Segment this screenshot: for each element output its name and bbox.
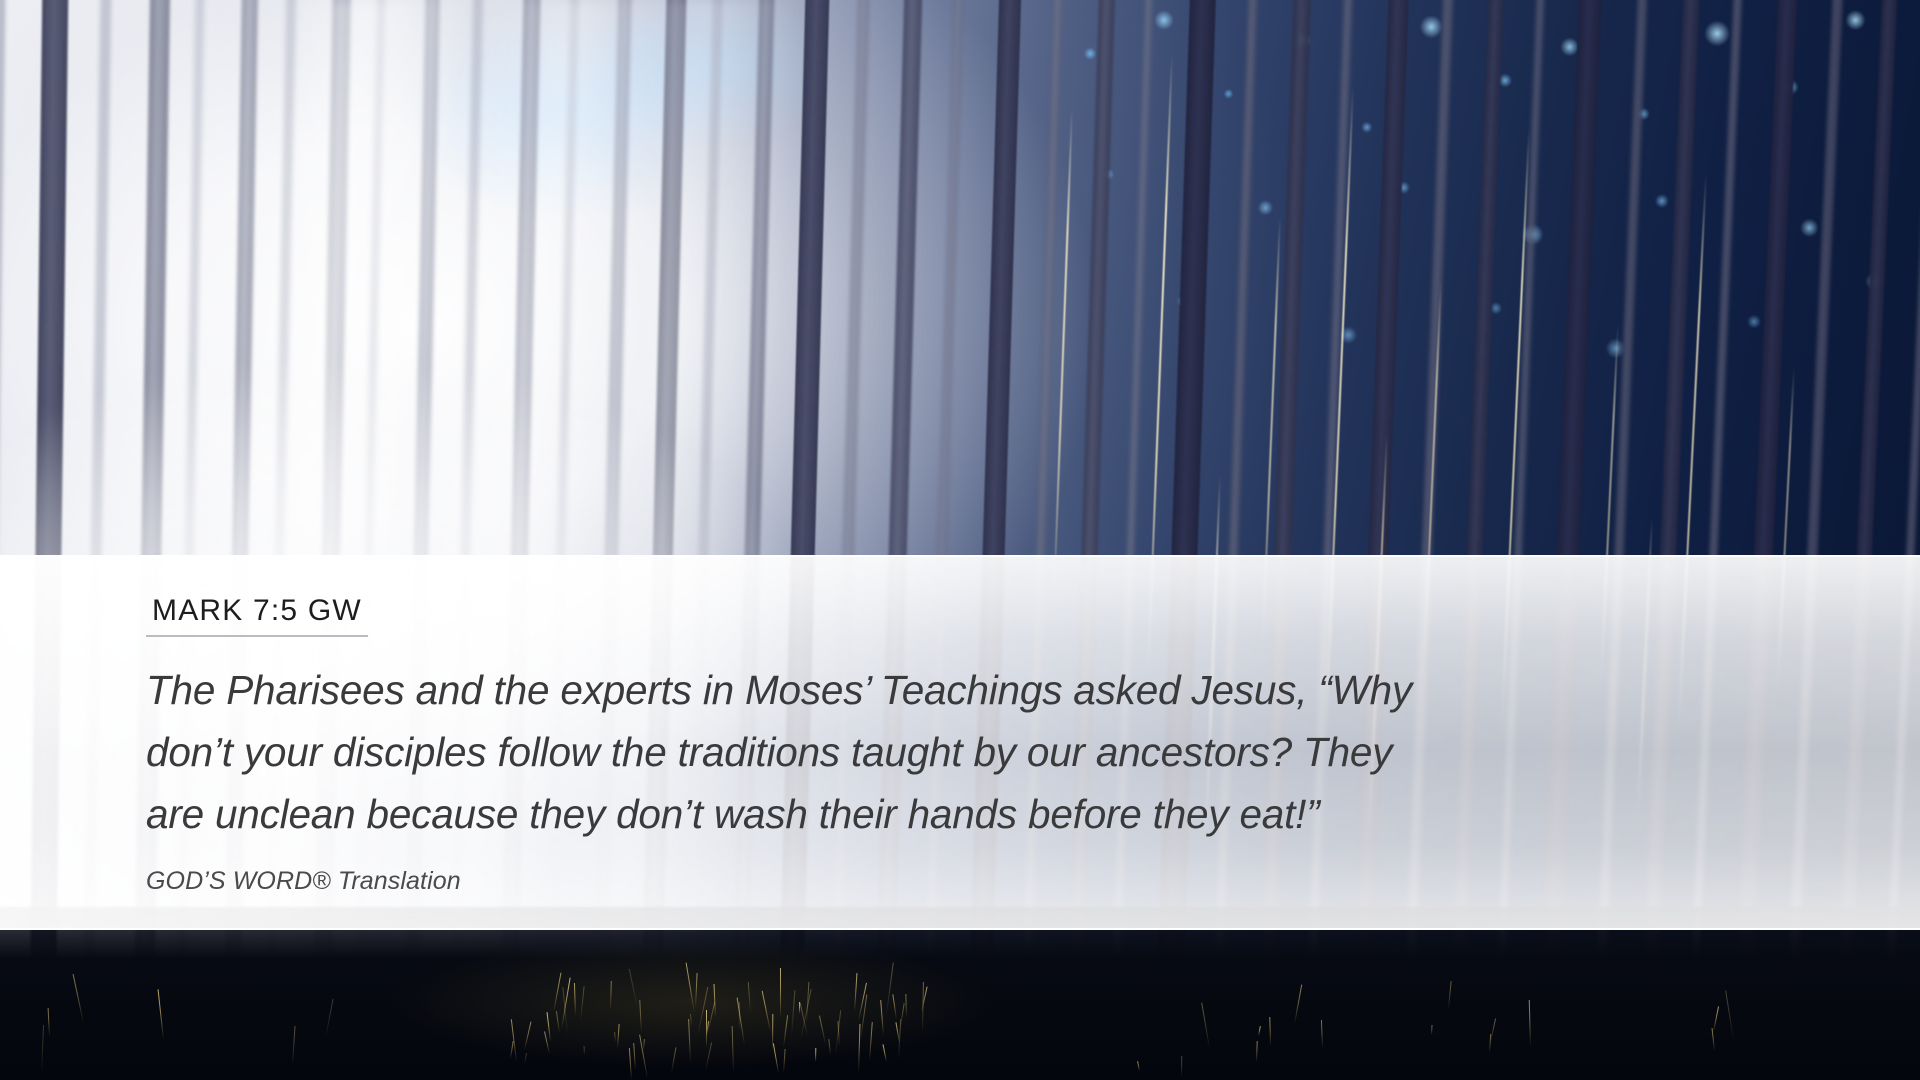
grass-blade (905, 994, 907, 1018)
verse-reference: MARK 7:5 GW (146, 595, 368, 637)
grass-blade (639, 1000, 642, 1033)
grass-blade (1321, 1020, 1323, 1048)
grass-blade (41, 1025, 44, 1074)
grass-blade (1181, 1056, 1182, 1077)
grass-blade (553, 973, 561, 1013)
grass-blade (773, 1043, 779, 1073)
grass-blade (1448, 981, 1452, 1009)
grass-blade (819, 1015, 826, 1044)
grass-blade (524, 1022, 531, 1050)
grass-blade (1256, 1041, 1258, 1062)
grass-blade (1529, 1000, 1531, 1047)
verse-line: don’t your disciples follow the traditio… (146, 721, 1826, 783)
grass-blade (922, 982, 924, 1033)
grass-blade (714, 984, 717, 1018)
grass-blade (524, 1054, 527, 1065)
grass-blade (574, 983, 576, 1016)
grass-blade (1713, 1007, 1719, 1032)
forest-floor (0, 907, 1920, 1080)
grass-blade (815, 1048, 816, 1062)
grass-blade (900, 1004, 905, 1027)
grass-blade (690, 1014, 692, 1027)
grass-blade (1258, 1026, 1261, 1036)
grass-blade (72, 974, 83, 1023)
grass-blade (738, 1002, 739, 1030)
verse-image-canvas: MARK 7:5 GW The Pharisees and the expert… (0, 0, 1920, 1080)
grass-blade (880, 1000, 884, 1036)
verse-line: The Pharisees and the experts in Moses’ … (146, 659, 1826, 721)
trunk-edge-light (1053, 108, 1073, 605)
grass-blade (556, 1011, 560, 1033)
grass-blade (610, 981, 612, 1010)
grass-blade (761, 991, 770, 1032)
grass-blade (633, 1043, 636, 1070)
grass-blade (748, 982, 751, 1013)
grass-blade (671, 1047, 676, 1073)
grass-blade (580, 986, 585, 1021)
grass-blade (292, 1026, 295, 1066)
quote-band: MARK 7:5 GW The Pharisees and the expert… (0, 555, 1920, 930)
grass-blades (0, 907, 1920, 1080)
grass-blade (643, 1039, 645, 1050)
grass-blade (1725, 991, 1734, 1041)
grass-blade (829, 1039, 832, 1055)
grass-blade (1201, 1002, 1210, 1048)
grass-blade (695, 973, 698, 1008)
grass-blade (869, 1022, 873, 1061)
grass-blade (1431, 1025, 1433, 1035)
grass-blade (617, 1024, 620, 1048)
grass-blade (783, 1049, 786, 1073)
grass-blade (791, 990, 795, 1036)
grass-blade (1137, 1061, 1140, 1071)
grass-blade (546, 1012, 550, 1041)
verse-text: The Pharisees and the experts in Moses’ … (146, 659, 1826, 845)
grass-blade (584, 1046, 585, 1055)
grass-blade (732, 1026, 734, 1073)
grass-blade (614, 1032, 616, 1042)
grass-blade (854, 973, 857, 1012)
grass-blade (629, 1048, 632, 1080)
quote-band-content: MARK 7:5 GW The Pharisees and the expert… (0, 557, 1920, 896)
grass-blade (882, 1044, 887, 1062)
grass-blade (48, 1008, 50, 1037)
grass-blade (685, 963, 694, 1014)
grass-blade (886, 962, 894, 1014)
grass-blade (1269, 1017, 1271, 1046)
verse-line: are unclean because they don’t wash thei… (146, 783, 1826, 845)
grass-blade (1490, 1019, 1496, 1043)
grass-blade (783, 1015, 788, 1047)
grass-blade (325, 998, 334, 1038)
translation-attribution: GOD’S WORD® Translation (146, 867, 1920, 896)
grass-blade (157, 989, 163, 1040)
grass-blade (892, 994, 897, 1019)
grass-blade (780, 968, 781, 1018)
grass-blade (1294, 985, 1302, 1025)
grass-blade (629, 969, 638, 1009)
